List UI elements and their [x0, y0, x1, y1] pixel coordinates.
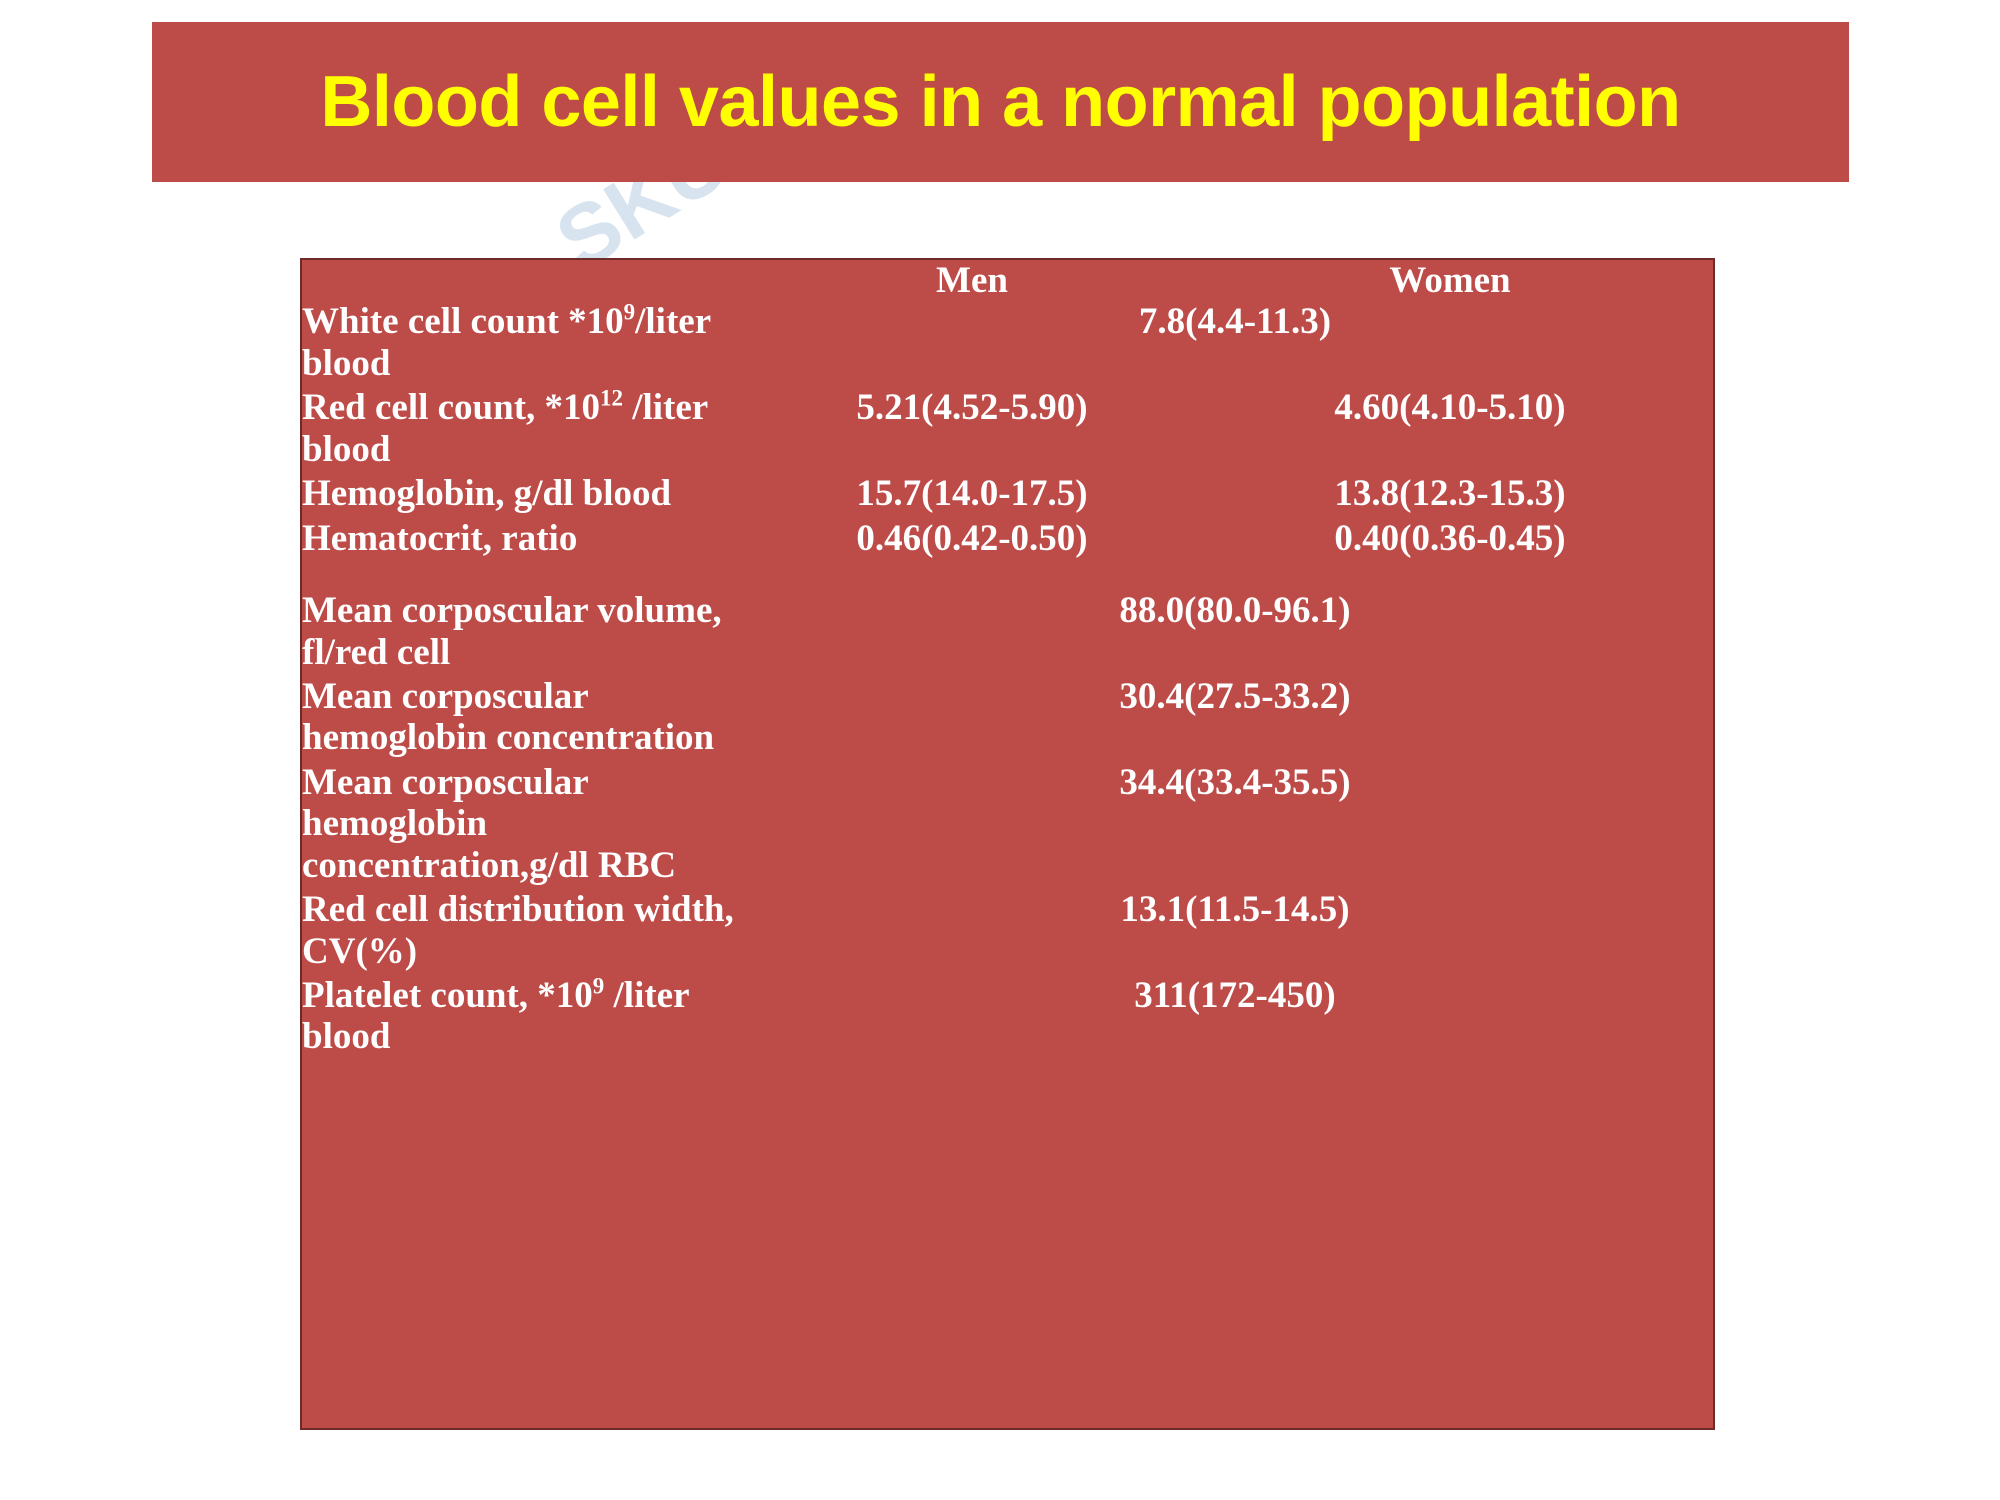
title-banner: Blood cell values in a normal population: [152, 22, 1849, 182]
blood-values-table: Men Women White cell count *109/liter bl…: [302, 260, 1713, 1107]
row-value-women: 4.60(4.10-5.10): [1187, 387, 1713, 473]
row-value-men: 5.21(4.52-5.90): [757, 387, 1187, 473]
column-header-men: Men: [757, 260, 1187, 301]
row-value-combined: 7.8(4.4-11.3): [757, 301, 1713, 387]
row-label: Red cell distribution width, CV(%): [302, 889, 757, 975]
row-value-men: 15.7(14.0-17.5): [757, 473, 1187, 517]
row-value-men: 0.46(0.42-0.50): [757, 518, 1187, 562]
row-value-women: 13.8(12.3-15.3): [1187, 473, 1713, 517]
page-title: Blood cell values in a normal population: [320, 66, 1680, 138]
row-label-exponent: 12: [600, 386, 623, 411]
row-value-combined: 34.4(33.4-35.5): [757, 762, 1713, 889]
row-label: White cell count *109/liter blood: [302, 301, 757, 387]
row-label-exponent: 9: [593, 974, 604, 999]
row-label-exponent: 9: [624, 300, 635, 325]
table-body: White cell count *109/liter blood7.8(4.4…: [302, 301, 1713, 1106]
row-value-combined: 13.1(11.5-14.5): [757, 889, 1713, 975]
table-row: Red cell distribution width, CV(%)13.1(1…: [302, 889, 1713, 975]
table-row: Hemoglobin, g/dl blood15.7(14.0-17.5)13.…: [302, 473, 1713, 517]
table-row-spacer: [302, 562, 1713, 590]
table-row: Hematocrit, ratio0.46(0.42-0.50)0.40(0.3…: [302, 518, 1713, 562]
spacer-cell: [302, 562, 1713, 590]
column-header-parameter: [302, 260, 757, 301]
table-row: Mean corposcular hemoglobin concentratio…: [302, 762, 1713, 889]
blood-values-table-container: Men Women White cell count *109/liter bl…: [300, 258, 1715, 1430]
row-label: Mean corposcular hemoglobin concentratio…: [302, 676, 757, 762]
row-value-combined: 311(172-450): [757, 975, 1713, 1061]
row-label: Hemoglobin, g/dl blood: [302, 473, 757, 517]
row-label: Platelet count, *109 /liter blood: [302, 975, 757, 1061]
table-row-tail: [302, 1061, 1713, 1107]
table-header: Men Women: [302, 260, 1713, 301]
row-label: Red cell count, *1012 /liter blood: [302, 387, 757, 473]
row-label: Mean corposcular volume, fl/red cell: [302, 590, 757, 676]
table-row: White cell count *109/liter blood7.8(4.4…: [302, 301, 1713, 387]
table-row: Red cell count, *1012 /liter blood5.21(4…: [302, 387, 1713, 473]
table-row: Mean corposcular volume, fl/red cell88.0…: [302, 590, 1713, 676]
table-row: Mean corposcular hemoglobin concentratio…: [302, 676, 1713, 762]
row-label: Hematocrit, ratio: [302, 518, 757, 562]
tail-cell: [302, 1061, 1713, 1107]
row-value-combined: 30.4(27.5-33.2): [757, 676, 1713, 762]
column-header-women: Women: [1187, 260, 1713, 301]
table-row: Platelet count, *109 /liter blood311(172…: [302, 975, 1713, 1061]
table-header-row: Men Women: [302, 260, 1713, 301]
row-value-women: 0.40(0.36-0.45): [1187, 518, 1713, 562]
row-label: Mean corposcular hemoglobin concentratio…: [302, 762, 757, 889]
row-value-combined: 88.0(80.0-96.1): [757, 590, 1713, 676]
